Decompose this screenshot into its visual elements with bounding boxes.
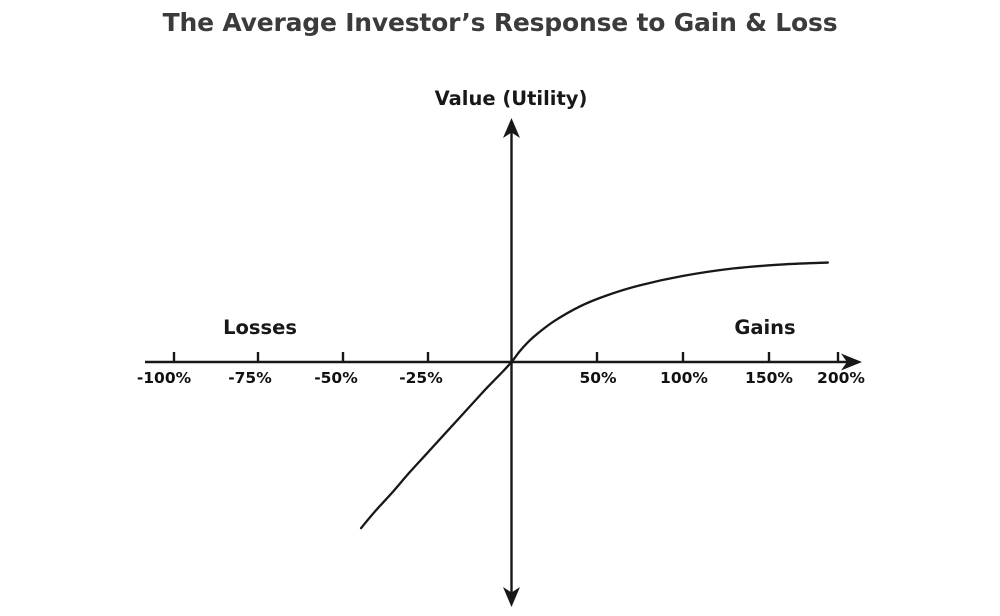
gains-label: Gains [734,316,795,339]
chart-canvas: The Average Investor’s Response to Gain … [0,0,1000,616]
y-axis-title: Value (Utility) [435,87,588,110]
value-function-curve [361,263,828,529]
losses-label: Losses [223,316,297,339]
tick-label-pos50: 50% [579,369,617,387]
tick-label-neg25: -25% [399,369,443,387]
value-function-chart: The Average Investor’s Response to Gain … [0,0,1000,616]
tick-label-neg50: -50% [314,369,358,387]
tick-label-pos150: 150% [745,369,793,387]
tick-label-neg75: -75% [228,369,272,387]
tick-label-neg100: -100% [137,369,192,387]
tick-label-pos100: 100% [660,369,708,387]
page-title: The Average Investor’s Response to Gain … [163,8,838,37]
tick-label-pos200: 200% [817,369,865,387]
